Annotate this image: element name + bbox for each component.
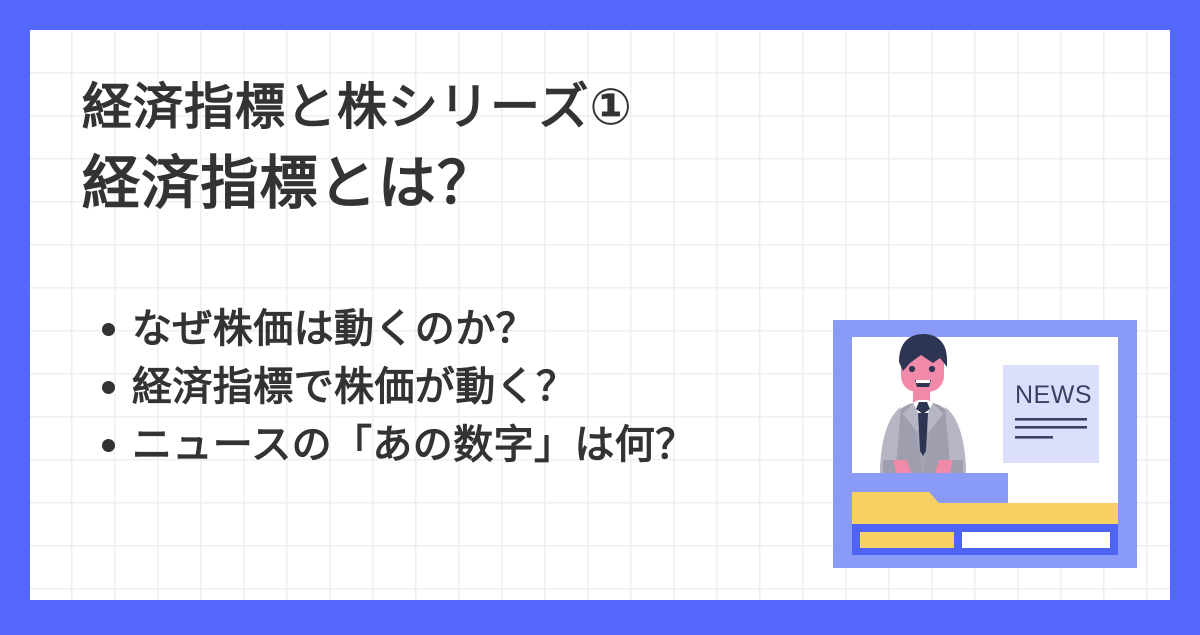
anchor-eye-left	[909, 366, 915, 372]
list-item: 経済指標で株価が動く？	[102, 358, 862, 416]
news-panel: NEWS	[1003, 365, 1099, 463]
news-panel-line	[1015, 418, 1087, 421]
bullet-dot-icon	[102, 323, 115, 336]
page-title: 経済指標とは？	[82, 149, 862, 219]
anchor-eye-right	[929, 366, 935, 372]
bullet-dot-icon	[102, 381, 115, 394]
bullet-dot-icon	[102, 439, 115, 452]
list-item-label: なぜ株価は動くのか？	[132, 309, 536, 349]
news-broadcast-svg: NEWS	[825, 310, 1145, 575]
list-item: ニュースの「あの数字」は何？	[102, 416, 862, 474]
ticker-segment-yellow	[860, 532, 954, 548]
ticker-segment-white	[962, 532, 1110, 548]
slide-canvas: 経済指標と株シリーズ① 経済指標とは？ なぜ株価は動くのか？ 経済指標で株価が動…	[0, 0, 1200, 635]
news-panel-background	[1003, 365, 1099, 463]
news-panel-line	[1015, 436, 1053, 439]
news-panel-line	[1015, 426, 1087, 429]
heading-block: 経済指標と株シリーズ① 経済指標とは？	[82, 78, 862, 219]
list-item: なぜ株価は動くのか？	[102, 300, 862, 358]
anchor-teeth	[916, 380, 930, 383]
bullet-list: なぜ株価は動くのか？ 経済指標で株価が動く？ ニュースの「あの数字」は何？	[102, 300, 862, 474]
grid-paper-sheet: 経済指標と株シリーズ① 経済指標とは？ なぜ株価は動くのか？ 経済指標で株価が動…	[30, 30, 1170, 600]
news-panel-label: NEWS	[1015, 381, 1092, 409]
list-item-label: 経済指標で株価が動く？	[132, 367, 576, 407]
series-eyebrow-title: 経済指標と株シリーズ①	[82, 78, 862, 137]
news-broadcast-illustration: NEWS	[825, 310, 1145, 575]
list-item-label: ニュースの「あの数字」は何？	[132, 425, 696, 465]
